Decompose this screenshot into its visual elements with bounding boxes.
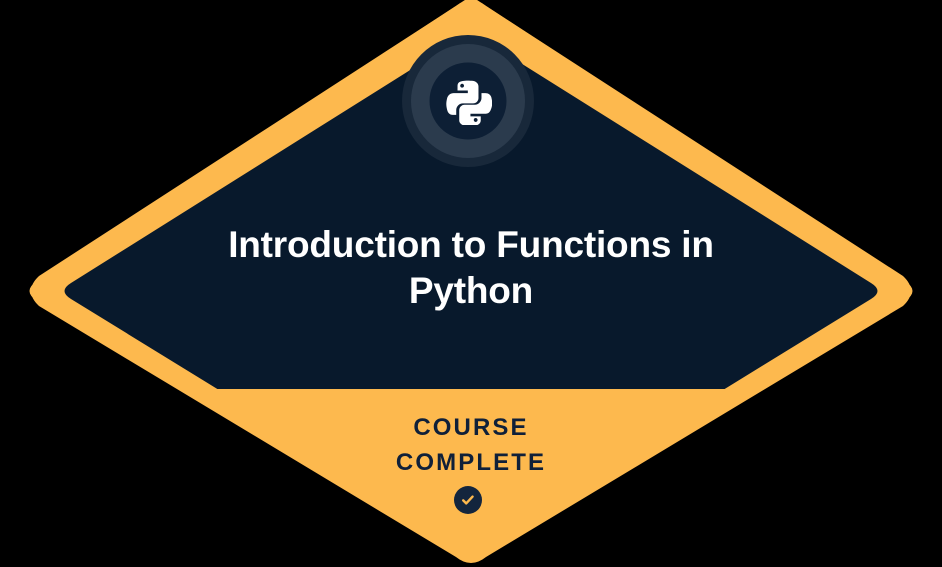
check-mark-path	[463, 497, 472, 504]
badge-title: Introduction to Functions in Python	[171, 222, 771, 314]
check-circle-icon	[454, 486, 482, 514]
python-logo-icon	[444, 77, 492, 125]
badge-status-label: COURSE COMPLETE	[211, 410, 731, 480]
course-completion-badge: Introduction to Functions in Python COUR…	[0, 0, 942, 567]
